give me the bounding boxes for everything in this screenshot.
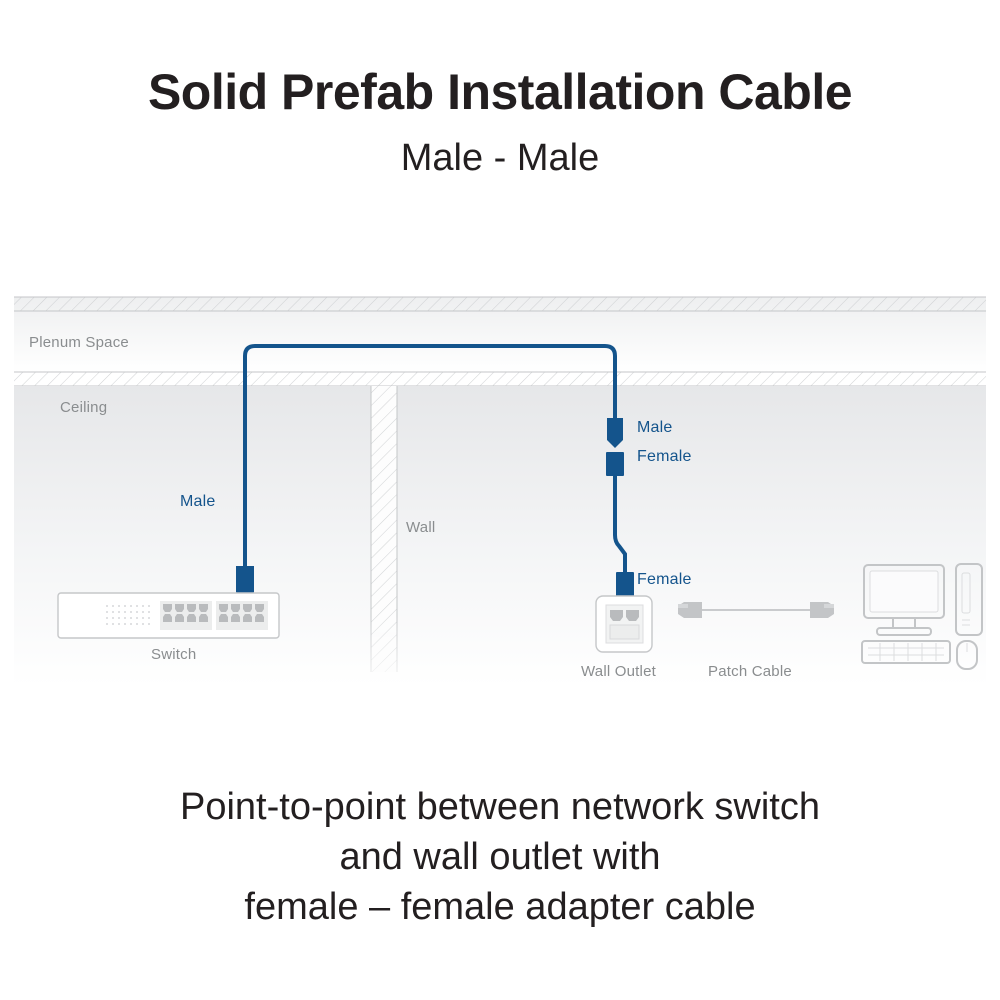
page-caption: Point-to-point between network switch an… bbox=[0, 782, 1000, 932]
caption-line-2: and wall outlet with bbox=[0, 832, 1000, 882]
page-subtitle: Male - Male bbox=[0, 138, 1000, 180]
wall-label: Wall bbox=[406, 519, 435, 536]
caption-line-1: Point-to-point between network switch bbox=[0, 782, 1000, 832]
wall-outlet-device bbox=[596, 596, 652, 652]
male-label-outlet-run: Male bbox=[637, 419, 672, 437]
caption-line-3: female – female adapter cable bbox=[0, 882, 1000, 932]
female-coupler-icon bbox=[606, 452, 624, 476]
room-background bbox=[14, 386, 986, 686]
female-label-coupler: Female bbox=[637, 448, 692, 466]
page-title: Solid Prefab Installation Cable bbox=[0, 66, 1000, 119]
wall-structure bbox=[371, 386, 397, 672]
male-label-switch-run: Male bbox=[180, 493, 215, 511]
network-switch-device bbox=[58, 593, 279, 638]
switch-label: Switch bbox=[151, 646, 196, 663]
plenum-space-label: Plenum Space bbox=[29, 334, 129, 351]
plenum-space-region bbox=[14, 297, 986, 372]
switch-port-bank-a bbox=[160, 601, 212, 630]
female-label-outlet: Female bbox=[637, 571, 692, 589]
poster-canvas: Solid Prefab Installation Cable Male - M… bbox=[0, 0, 1000, 1000]
patch-cable-label: Patch Cable bbox=[708, 663, 792, 680]
diagram-svg bbox=[0, 280, 1000, 700]
switch-port-bank-b bbox=[216, 601, 268, 630]
wall-outlet-label: Wall Outlet bbox=[581, 663, 656, 680]
installation-diagram: Plenum Space Ceiling Wall Switch Wall Ou… bbox=[0, 280, 1000, 700]
ceiling-label: Ceiling bbox=[60, 399, 107, 416]
ceiling-region bbox=[14, 372, 986, 386]
